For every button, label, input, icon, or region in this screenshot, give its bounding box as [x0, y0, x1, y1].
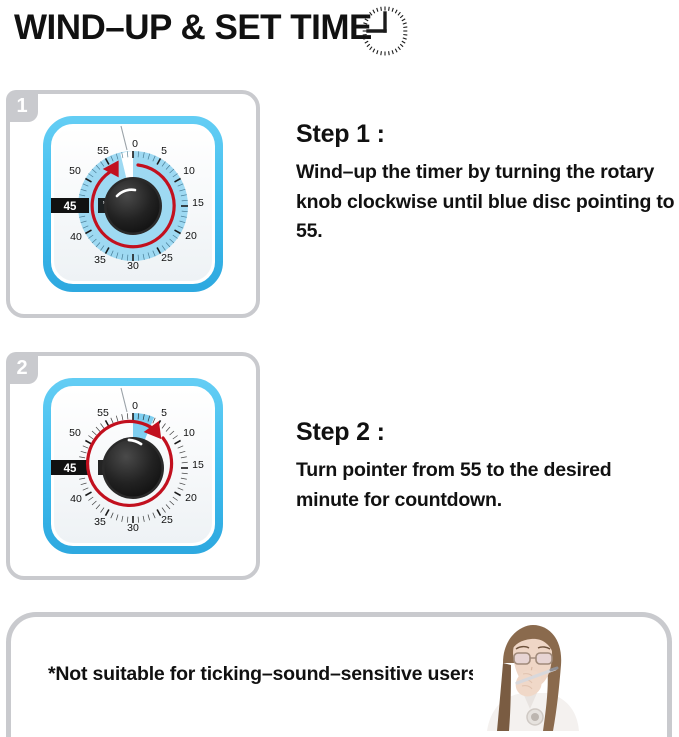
svg-text:25: 25 — [161, 252, 173, 264]
svg-text:10: 10 — [183, 165, 195, 177]
svg-text:5: 5 — [161, 145, 167, 157]
svg-text:0: 0 — [132, 138, 138, 150]
page-title: WIND–UP & SET TIME — [14, 8, 372, 48]
svg-text:30: 30 — [127, 260, 139, 272]
svg-text:35: 35 — [94, 254, 106, 266]
svg-text:25: 25 — [161, 514, 173, 526]
step-2-body: Turn pointer from 55 to the desired minu… — [296, 456, 679, 515]
svg-text:45: 45 — [64, 201, 77, 213]
step-badge-1: 1 — [6, 90, 38, 122]
svg-text:30: 30 — [127, 522, 139, 534]
svg-text:40: 40 — [70, 231, 82, 243]
svg-text:20: 20 — [185, 492, 197, 504]
step-card-2: 2 — [6, 352, 260, 580]
step-text-1: Step 1 : Wind–up the timer by turning th… — [296, 120, 679, 247]
step-1-body: Wind–up the timer by turning the rotary … — [296, 158, 679, 247]
svg-text:50: 50 — [69, 165, 81, 177]
step-badge-2: 2 — [6, 352, 38, 384]
svg-text:0: 0 — [132, 400, 138, 412]
svg-text:15: 15 — [192, 459, 204, 471]
footer-note-text: *Not suitable for ticking–sound–sensitiv… — [48, 663, 484, 686]
clock-icon — [358, 4, 412, 58]
svg-text:45: 45 — [64, 463, 77, 475]
svg-text:35: 35 — [94, 516, 106, 528]
timer-illustration-2: 0 5 10 15 20 25 30 35 40 45 50 55 45 MIN… — [43, 376, 223, 556]
woman-with-glasses-photo — [473, 617, 587, 731]
svg-text:50: 50 — [69, 427, 81, 439]
timer-illustration-1: 0 5 10 15 20 25 30 35 40 45 50 55 45 MIN… — [43, 114, 223, 294]
svg-text:55: 55 — [97, 145, 109, 157]
svg-text:40: 40 — [70, 493, 82, 505]
svg-text:10: 10 — [183, 427, 195, 439]
page-header: WIND–UP & SET TIME — [0, 0, 679, 82]
step-2-heading: Step 2 : — [296, 418, 679, 447]
step-1-heading: Step 1 : — [296, 120, 679, 149]
svg-text:55: 55 — [97, 407, 109, 419]
step-text-2: Step 2 : Turn pointer from 55 to the des… — [296, 418, 679, 515]
svg-text:5: 5 — [161, 407, 167, 419]
svg-text:15: 15 — [192, 197, 204, 209]
svg-text:20: 20 — [185, 230, 197, 242]
step-card-1: 1 — [6, 90, 260, 318]
